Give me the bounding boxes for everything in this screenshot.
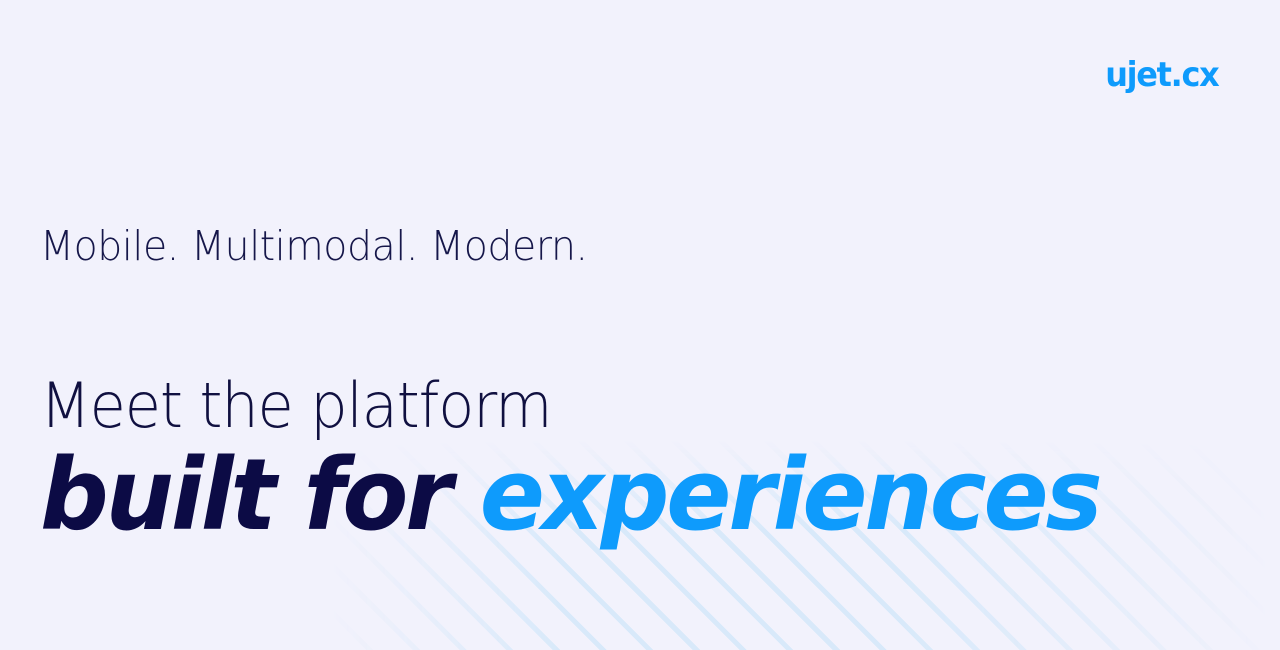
- hero-headline-line-1: Meet the platform: [40, 370, 551, 441]
- hero-eyebrow: Mobile. Multimodal. Modern.: [40, 222, 588, 271]
- hero-slide: ujet.cx Mobile. Multimodal. Modern. Meet…: [0, 0, 1280, 650]
- hero-headline-primary-text: built for: [40, 438, 449, 553]
- hero-copy-block: Mobile. Multimodal. Modern. Meet the pla…: [40, 0, 1240, 650]
- hero-headline-accent-text: experiences: [480, 438, 1100, 553]
- hero-headline-line-2: built for experiences: [40, 443, 1100, 550]
- hero-headline-space: [449, 438, 479, 553]
